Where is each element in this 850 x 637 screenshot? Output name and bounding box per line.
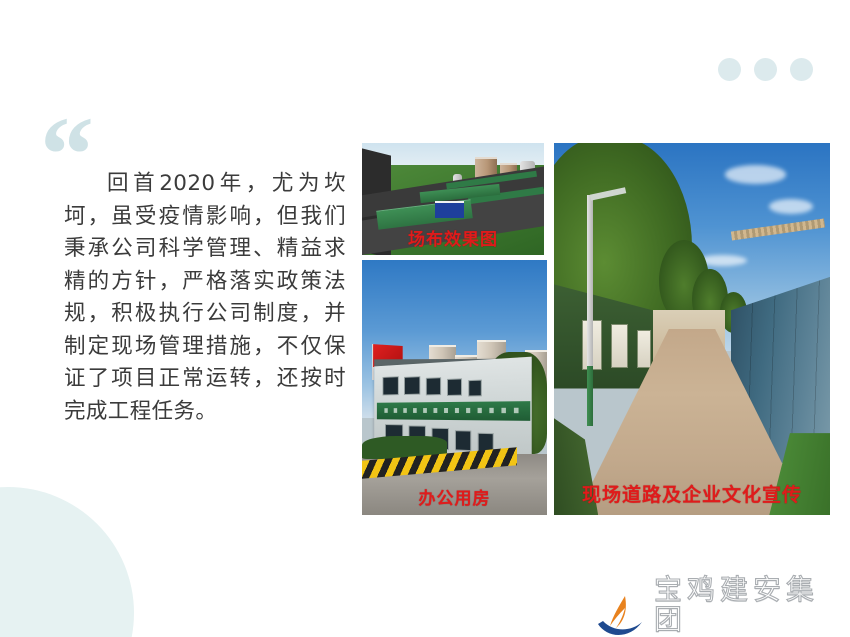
slide-canvas: “ 回首2020年，尤为坎坷，虽受疫情影响，但我们秉承公司科学管理、精益求精的方… bbox=[0, 0, 850, 637]
decorative-dot-2 bbox=[754, 58, 777, 81]
photo-site-road[interactable]: 现场道路及企业文化宣传 bbox=[554, 143, 830, 515]
photo-site-layout[interactable]: 场布效果图 bbox=[362, 143, 544, 255]
photo-caption: 办公用房 bbox=[362, 484, 547, 509]
cloud bbox=[769, 199, 813, 214]
logo-chinese-name: 宝鸡建安集团 bbox=[654, 575, 850, 635]
photo-caption: 现场道路及企业文化宣传 bbox=[554, 480, 830, 507]
culture-poster bbox=[637, 330, 652, 367]
decorative-dots bbox=[718, 58, 813, 81]
street-lamp-post bbox=[587, 195, 593, 426]
decorative-circle bbox=[0, 487, 134, 637]
window bbox=[404, 376, 420, 394]
logo-text-block: 宝鸡建安集团 Baoji Construction and Installati… bbox=[654, 575, 850, 637]
culture-poster bbox=[611, 324, 628, 368]
logo-flame-swoosh-icon bbox=[595, 594, 645, 637]
decorative-dot-1 bbox=[718, 58, 741, 81]
window bbox=[382, 376, 399, 395]
banner-slogan-strip bbox=[377, 401, 531, 421]
window bbox=[447, 379, 462, 396]
photo-office-building[interactable]: 办公用房 bbox=[362, 260, 547, 515]
cloud bbox=[725, 165, 786, 184]
body-paragraph: 回首2020年，尤为坎坷，虽受疫情影响，但我们秉承公司科学管理、精益求精的方针，… bbox=[64, 168, 346, 428]
window bbox=[425, 377, 441, 395]
photo-caption: 场布效果图 bbox=[362, 225, 544, 250]
window bbox=[455, 431, 472, 451]
company-logo: 宝鸡建安集团 Baoji Construction and Installati… bbox=[595, 575, 850, 637]
decorative-dot-3 bbox=[790, 58, 813, 81]
site-trailer bbox=[435, 201, 464, 218]
window bbox=[468, 380, 482, 396]
